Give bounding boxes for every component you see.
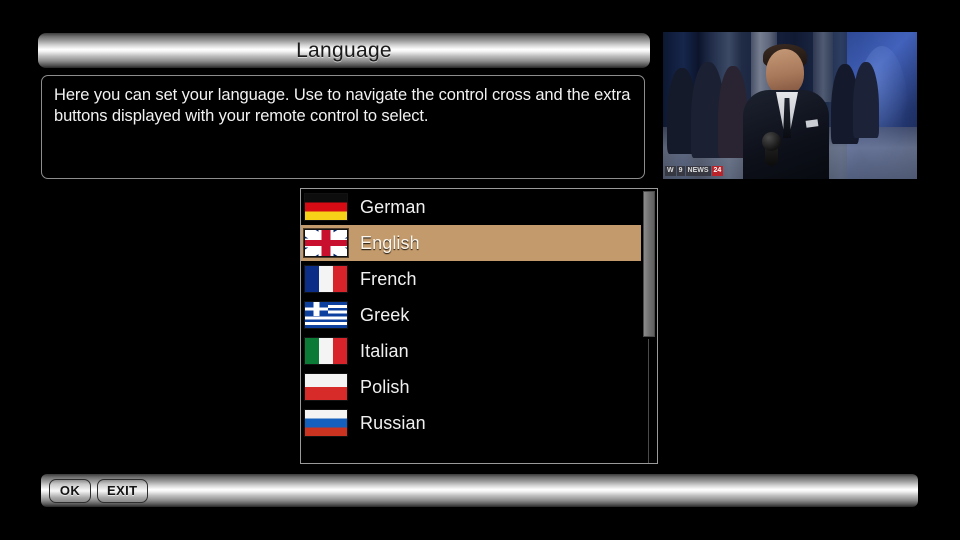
flag-greece-icon xyxy=(304,301,348,329)
logo-part-0: W xyxy=(665,166,676,176)
preview-crowd-5 xyxy=(853,62,879,138)
preview-microphone-head xyxy=(762,132,781,151)
logo-part-3: 24 xyxy=(712,166,724,176)
page-title: Language xyxy=(296,40,392,61)
logo-part-1: 9 xyxy=(677,166,685,176)
language-label: Russian xyxy=(360,413,426,434)
preview-reporter-head xyxy=(766,49,804,95)
list-scrollbar[interactable] xyxy=(643,191,655,463)
flag-united-kingdom-icon xyxy=(304,229,348,257)
language-label: French xyxy=(360,269,417,290)
preview-pillar-right xyxy=(813,32,833,102)
scrollbar-thumb[interactable] xyxy=(643,191,655,337)
flag-france-icon xyxy=(304,265,348,293)
language-item-russian[interactable]: Russian xyxy=(301,405,641,441)
logo-part-2: NEWS xyxy=(686,166,711,176)
description-text: Here you can set your language. Use to n… xyxy=(54,85,632,127)
language-item-english[interactable]: English xyxy=(301,225,641,261)
language-label: Italian xyxy=(360,341,409,362)
scrollbar-track xyxy=(648,339,649,463)
language-item-italian[interactable]: Italian xyxy=(301,333,641,369)
language-item-german[interactable]: German xyxy=(301,189,641,225)
ok-button[interactable]: OK xyxy=(49,479,91,503)
flag-russia-icon xyxy=(304,409,348,437)
language-item-greek[interactable]: Greek xyxy=(301,297,641,333)
page-title-bar: Language xyxy=(38,33,650,68)
flag-germany-icon xyxy=(304,193,348,221)
live-tv-preview[interactable]: W 9 NEWS 24 xyxy=(662,31,918,180)
language-label: English xyxy=(360,233,420,254)
language-list[interactable]: German English French Greek Italian Poli xyxy=(301,189,641,441)
language-label: Polish xyxy=(360,377,410,398)
language-item-french[interactable]: French xyxy=(301,261,641,297)
softkey-bar: OK EXIT xyxy=(41,474,918,507)
flag-italy-icon xyxy=(304,337,348,365)
tv-settings-screen: Language Here you can set your language.… xyxy=(0,0,960,540)
description-panel: Here you can set your language. Use to n… xyxy=(41,75,645,179)
exit-button[interactable]: EXIT xyxy=(97,479,148,503)
language-label: Greek xyxy=(360,305,410,326)
flag-poland-icon xyxy=(304,373,348,401)
language-item-polish[interactable]: Polish xyxy=(301,369,641,405)
language-list-panel[interactable]: German English French Greek Italian Poli xyxy=(300,188,658,464)
preview-channel-logo: W 9 NEWS 24 xyxy=(665,165,723,177)
language-label: German xyxy=(360,197,426,218)
